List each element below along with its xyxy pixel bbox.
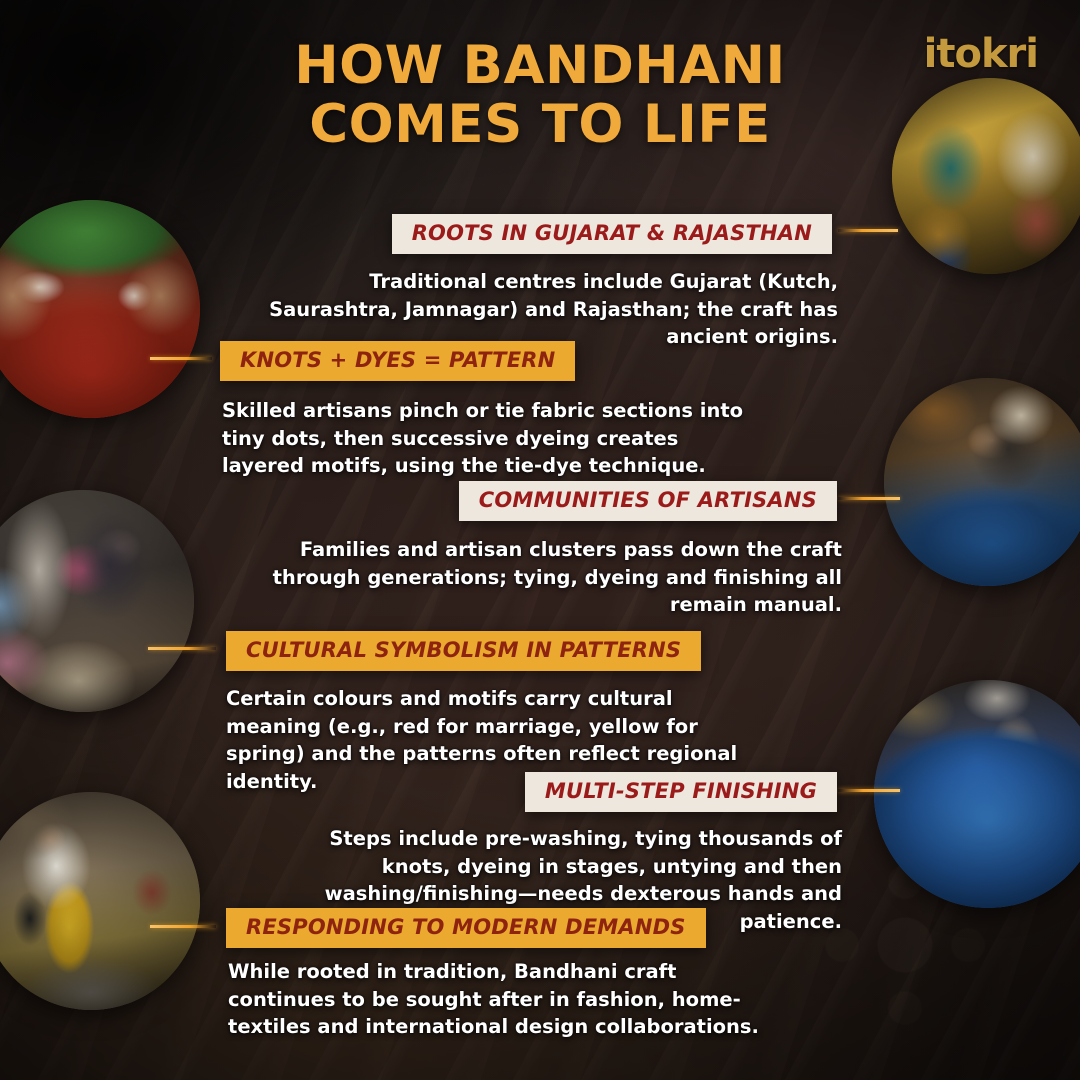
photo-disc — [874, 680, 1080, 908]
infographic-poster: itokri HOW BANDHANI COMES TO LIFE — [0, 0, 1080, 1080]
connector-line-knots — [150, 357, 212, 360]
photo-disc — [0, 792, 200, 1010]
photo-artisan-lifting-yellow-dyed-hanks — [0, 792, 200, 1010]
section-banner-knots-dyes[interactable]: KNOTS + DYES = PATTERN — [220, 341, 575, 381]
section-body-communities: Families and artisan clusters pass down … — [222, 536, 842, 619]
section-banner-symbolism[interactable]: CULTURAL SYMBOLISM IN PATTERNS — [226, 631, 701, 671]
photo-shading — [892, 78, 1080, 274]
title-line-2: COMES TO LIFE — [160, 95, 920, 154]
section-banner-finishing[interactable]: MULTI-STEP FINISHING — [525, 772, 837, 812]
section-banner-communities[interactable]: COMMUNITIES OF ARTISANS — [459, 481, 837, 521]
photo-woman-artisan-tying-cloth — [0, 490, 194, 712]
photo-dyer-with-gloves-at-blue-dye-tub — [884, 378, 1080, 586]
section-banner-modern-demands[interactable]: RESPONDING TO MODERN DEMANDS — [226, 908, 706, 948]
connector-line-modern — [150, 925, 216, 928]
photo-hands-tying-red-bandhani-fabric — [0, 200, 200, 418]
section-body-knots-dyes: Skilled artisans pinch or tie fabric sec… — [222, 397, 757, 480]
connector-line-symbolism — [148, 647, 216, 650]
photo-shading — [884, 378, 1080, 586]
photo-disc — [884, 378, 1080, 586]
photo-disc — [0, 490, 194, 712]
section-body-roots: Traditional centres include Gujarat (Kut… — [238, 268, 838, 351]
section-banner-roots[interactable]: ROOTS IN GUJARAT & RAJASTHAN — [392, 214, 832, 254]
connector-line-finishing — [838, 789, 900, 792]
photo-disc — [892, 78, 1080, 274]
connector-line-communities — [838, 497, 900, 500]
title-line-1: HOW BANDHANI — [160, 36, 920, 95]
connector-line-roots — [838, 229, 898, 232]
photo-disc — [0, 200, 200, 418]
photo-two-women-tying-bandhani-knots — [892, 78, 1080, 274]
photo-cloth-dipped-in-indigo-dye-vat — [874, 680, 1080, 908]
section-body-modern-demands: While rooted in tradition, Bandhani craf… — [228, 958, 788, 1041]
